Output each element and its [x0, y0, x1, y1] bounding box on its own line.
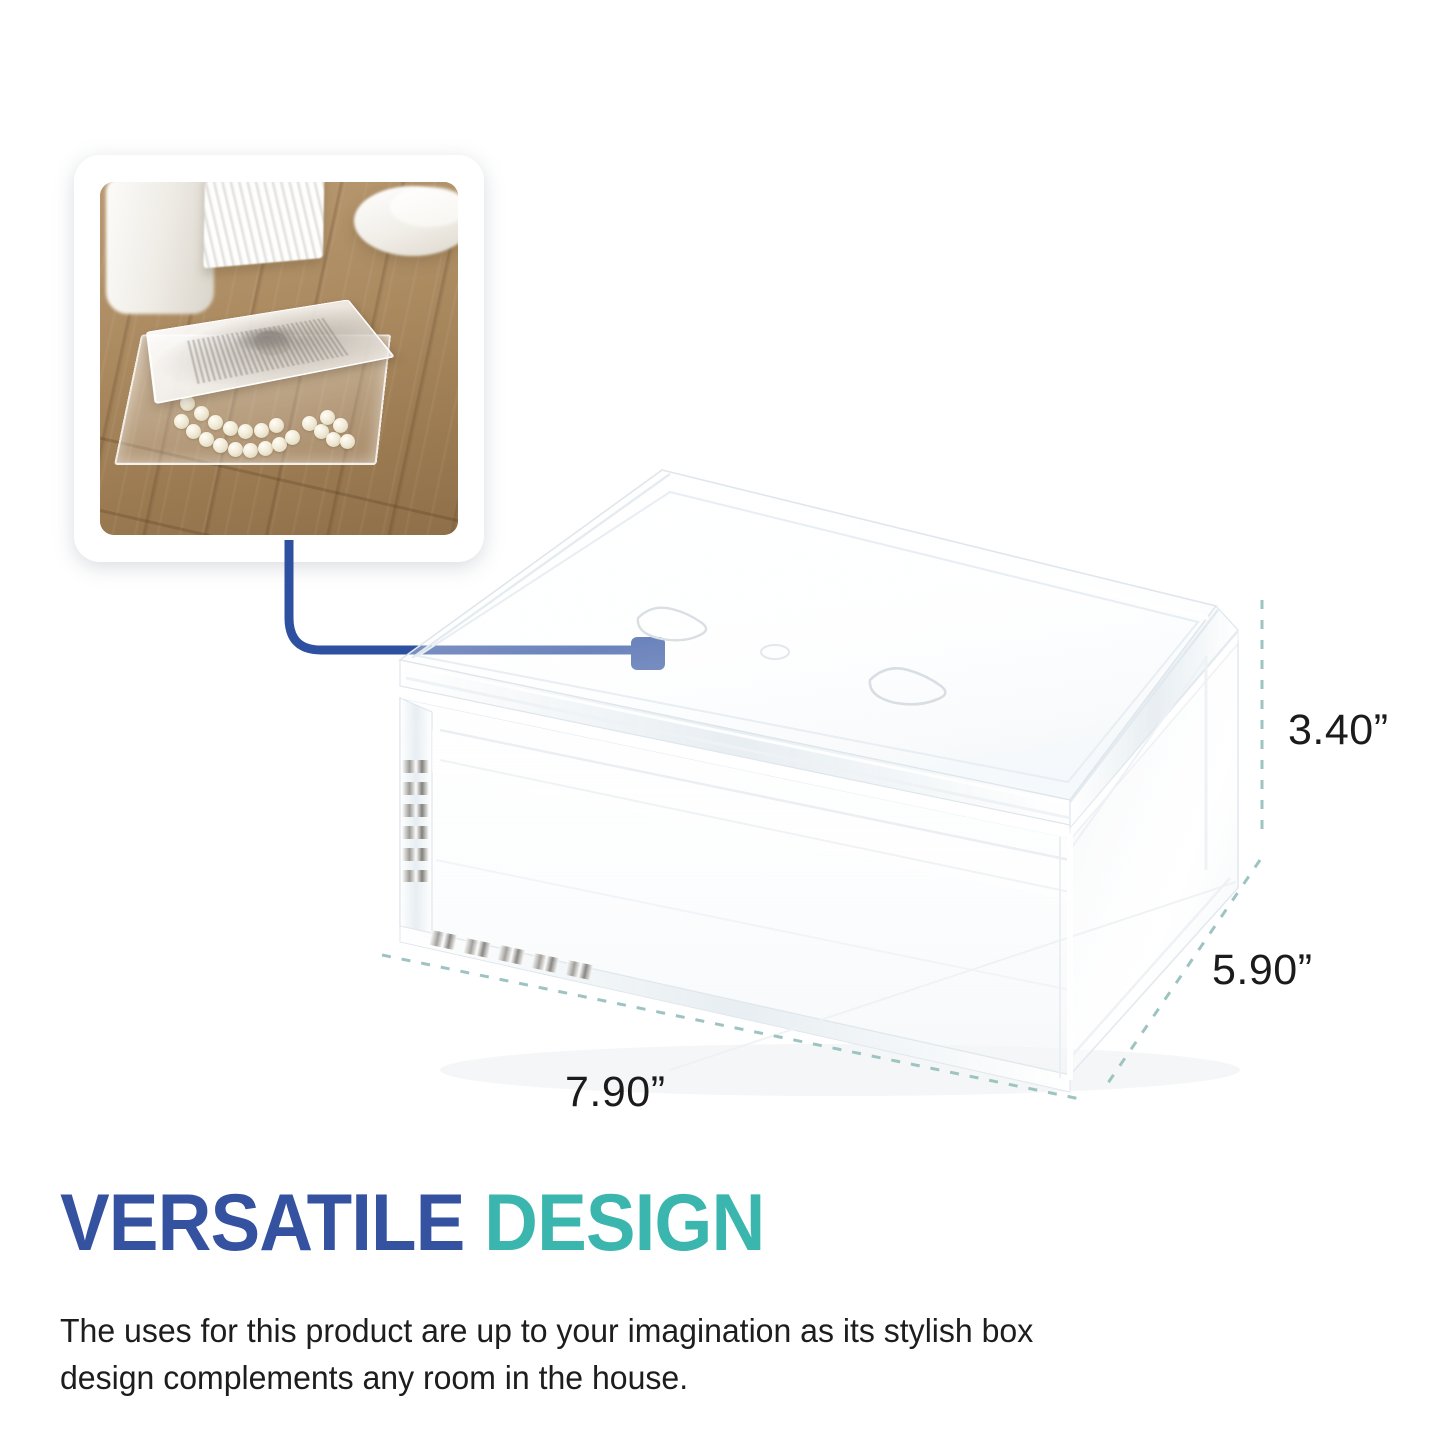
dimension-label-width: 7.90”	[565, 1068, 666, 1117]
headline: VERSATILE DESIGN	[60, 1183, 764, 1264]
headline-word-design: DESIGN	[484, 1178, 764, 1268]
pearl-necklace	[170, 388, 358, 464]
inset-acrylic-box	[126, 280, 398, 480]
subcopy-text: The uses for this product are up to your…	[60, 1308, 1088, 1402]
capitol-dome	[250, 329, 294, 358]
dimension-label-depth: 5.90”	[1212, 946, 1313, 995]
product-acrylic-box	[370, 430, 1270, 1110]
folded-towel	[203, 182, 324, 268]
dimension-label-height: 3.40”	[1288, 706, 1389, 755]
headline-word-versatile: VERSATILE	[60, 1178, 464, 1268]
infographic-page: 3.40” 5.90” 7.90” VERSATILE DESIGN The u…	[0, 0, 1445, 1445]
soap-dish-inner	[390, 187, 458, 227]
